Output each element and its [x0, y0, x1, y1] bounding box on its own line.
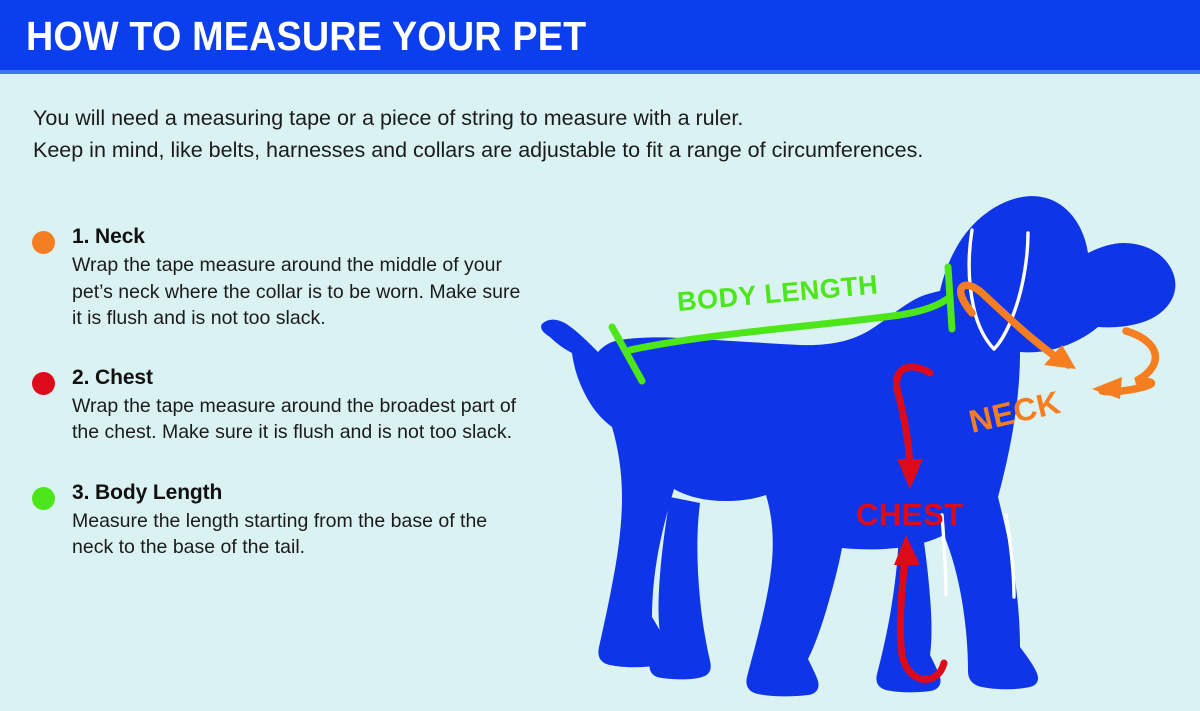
body-length-end-tick-right [948, 267, 952, 329]
header-underline [0, 70, 1200, 74]
infographic-page: HOW TO MEASURE YOUR PET You will need a … [0, 0, 1200, 711]
intro-line-2: Keep in mind, like belts, harnesses and … [33, 134, 1093, 166]
page-title: HOW TO MEASURE YOUR PET [26, 13, 586, 60]
step-body-neck: Wrap the tape measure around the middle … [72, 252, 522, 332]
step-title-neck: 1. Neck [72, 222, 540, 252]
step-body-body-length: Measure the length starting from the bas… [72, 508, 522, 561]
bullet-icon-neck [32, 231, 55, 254]
intro-text: You will need a measuring tape or a piec… [33, 102, 1093, 166]
step-title-chest: 2. Chest [72, 363, 540, 393]
intro-line-1: You will need a measuring tape or a piec… [33, 102, 1093, 134]
body-length-label: BODY LENGTH [676, 270, 879, 317]
steps-list: 1. Neck Wrap the tape measure around the… [0, 222, 540, 587]
dog-measurement-illustration: BODY LENGTH NECK CHEST [520, 185, 1200, 711]
step-title-body-length: 3. Body Length [72, 478, 540, 508]
chest-label: CHEST [856, 497, 964, 532]
step-body-chest: Wrap the tape measure around the broades… [72, 393, 522, 446]
bullet-icon-body-length [32, 487, 55, 510]
step-item-body-length: 3. Body Length Measure the length starti… [0, 478, 540, 561]
step-item-neck: 1. Neck Wrap the tape measure around the… [0, 222, 540, 332]
step-item-chest: 2. Chest Wrap the tape measure around th… [0, 363, 540, 446]
neck-arrowhead-right [1092, 377, 1122, 399]
bullet-icon-chest [32, 372, 55, 395]
